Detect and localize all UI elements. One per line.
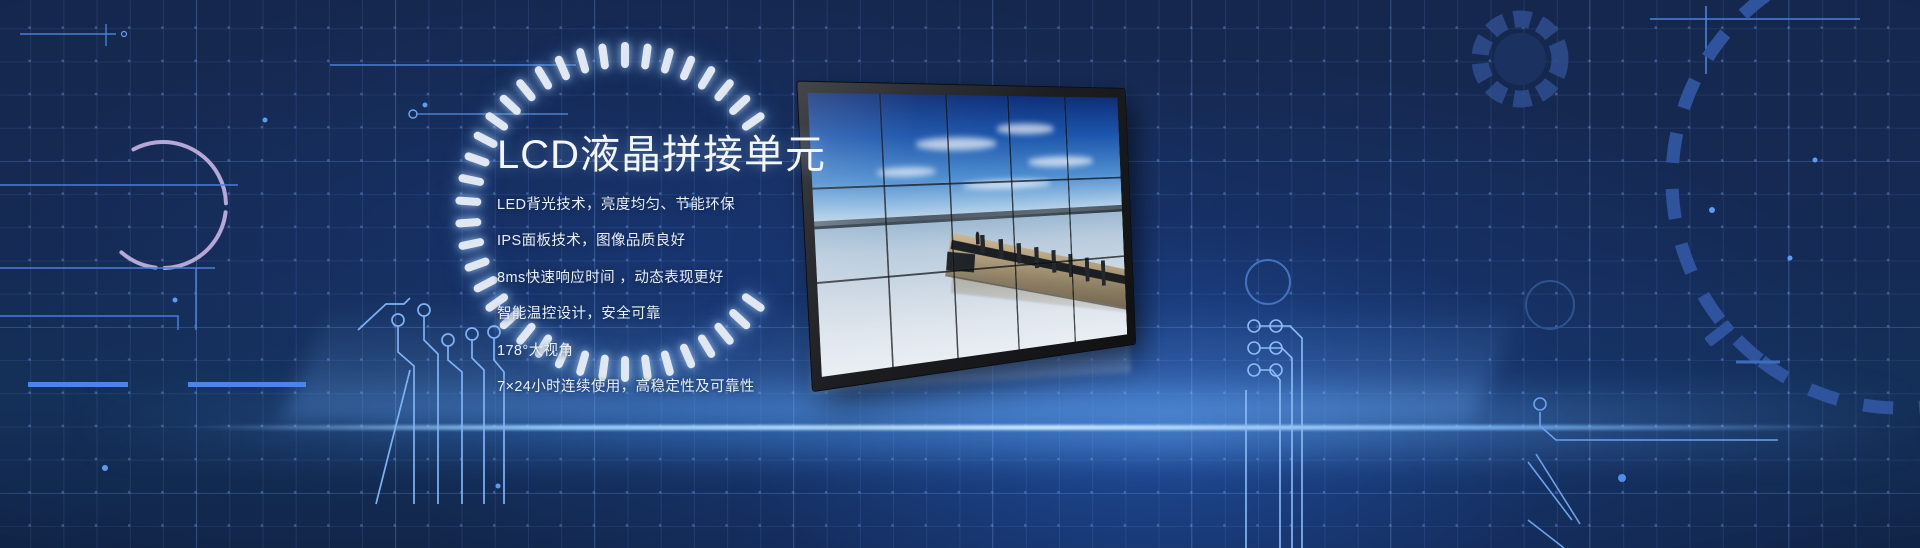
lcd-product-banner: LCD液晶拼接单元 LED背光技术，亮度均匀、节能环保 IPS面板技术，图像品质… xyxy=(0,0,1920,548)
list-item: LED背光技术，亮度均匀、节能环保 xyxy=(497,198,967,213)
feature-list: LED背光技术，亮度均匀、节能环保 IPS面板技术，图像品质良好 8ms快速响应… xyxy=(497,198,967,395)
page-title: LCD液晶拼接单元 xyxy=(497,133,967,178)
list-item: IPS面板技术，图像品质良好 xyxy=(497,234,967,249)
scene-person xyxy=(975,232,979,245)
list-item: 178°大视角 xyxy=(497,344,967,359)
list-item: 智能温控设计，安全可靠 xyxy=(497,307,967,322)
banner-copy: LCD液晶拼接单元 LED背光技术，亮度均匀、节能环保 IPS面板技术，图像品质… xyxy=(497,133,967,395)
list-item: 8ms快速响应时间 ，动态表现更好 xyxy=(497,271,967,286)
list-item: 7×24小时连续使用，高稳定性及可靠性 xyxy=(497,380,967,395)
